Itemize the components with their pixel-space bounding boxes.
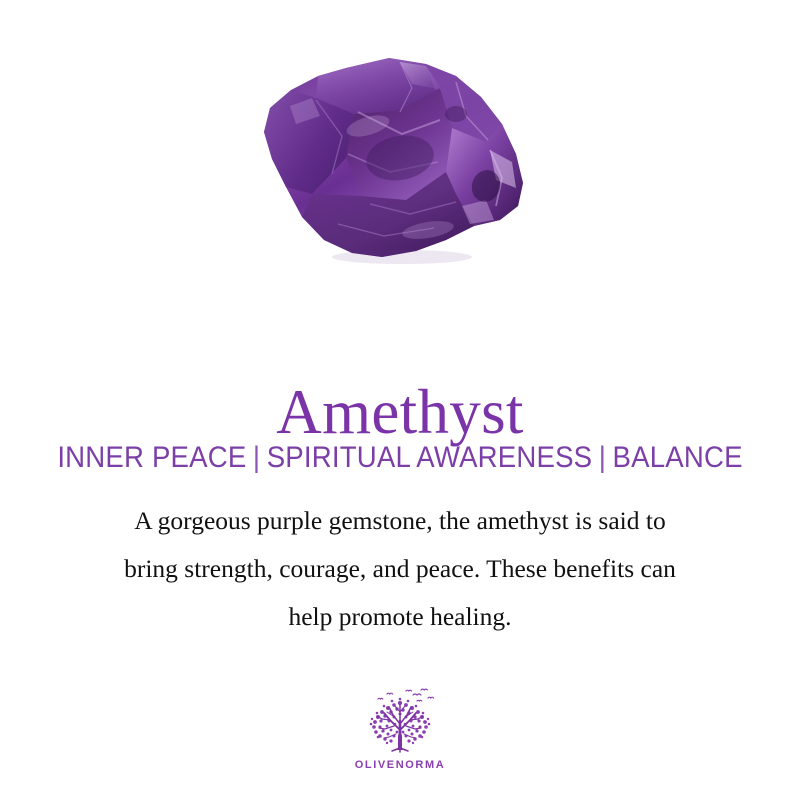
description-line-2: bring strength, courage, and peace. Thes… — [50, 545, 750, 593]
keyword-spiritual-awareness: SPIRITUAL AWARENESS — [267, 441, 593, 474]
stone-contact-shadow — [332, 250, 472, 264]
description-line-3: help promote healing. — [50, 593, 750, 641]
tree-of-life-icon — [357, 686, 443, 756]
keyword-tagline: INNER PEACE|SPIRITUAL AWARENESS|BALANCE — [32, 440, 768, 476]
amethyst-info-card: Amethyst INNER PEACE|SPIRITUAL AWARENESS… — [0, 0, 800, 800]
keyword-balance: BALANCE — [613, 441, 743, 474]
page-title: Amethyst — [0, 376, 800, 448]
amethyst-stone-image — [250, 54, 550, 266]
keyword-inner-peace: INNER PEACE — [57, 441, 246, 474]
flying-birds-icon — [378, 689, 434, 701]
keyword-separator-2: | — [592, 440, 612, 476]
description-line-1: A gorgeous purple gemstone, the amethyst… — [50, 497, 750, 545]
tree-roots — [392, 748, 408, 752]
brand-wordmark: OLIVENORMA — [355, 759, 446, 771]
description-text: A gorgeous purple gemstone, the amethyst… — [50, 497, 750, 641]
hero-image-area — [0, 0, 800, 310]
keyword-separator-1: | — [246, 440, 266, 476]
brand-logo: OLIVENORMA — [0, 686, 800, 771]
amethyst-crystal-icon — [250, 54, 550, 266]
